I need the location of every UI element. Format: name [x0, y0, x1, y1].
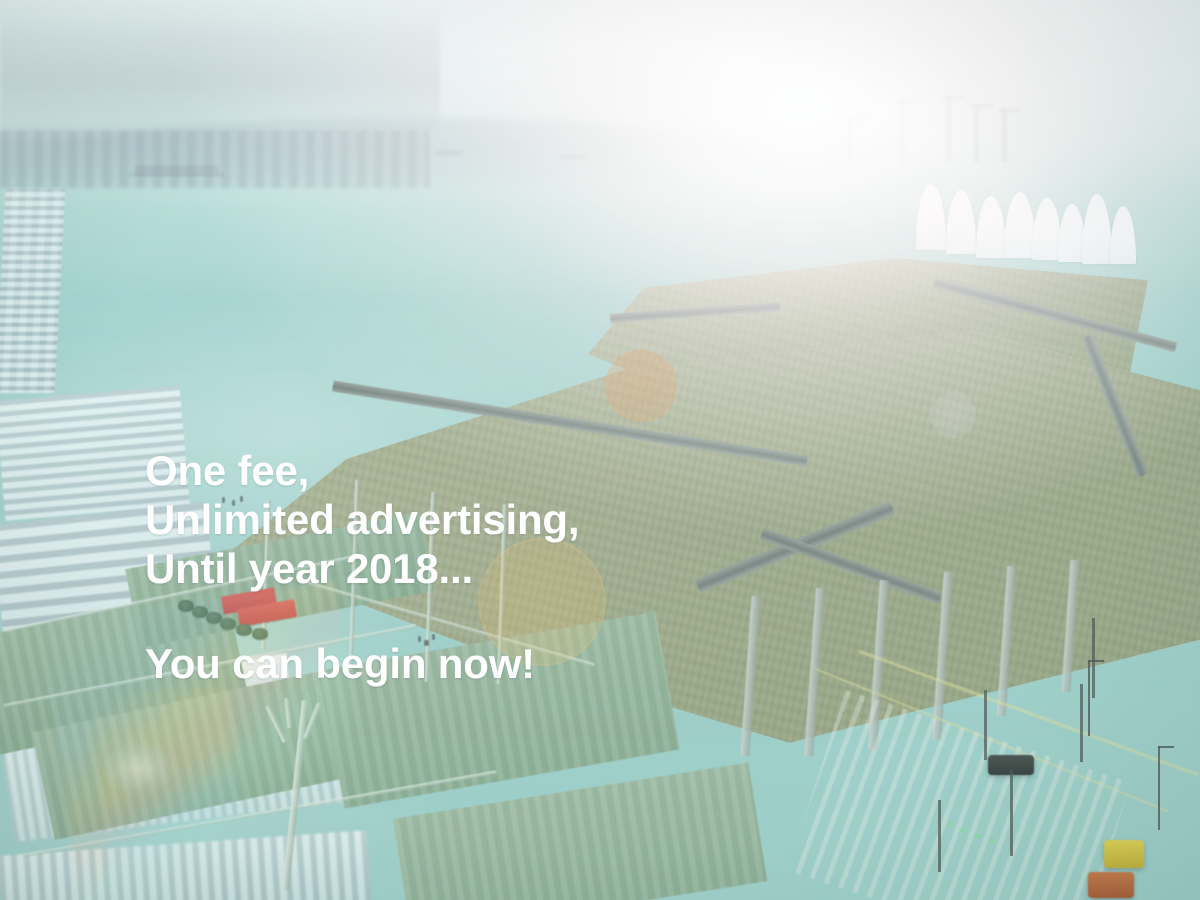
headline-line-1: One fee, — [145, 446, 845, 495]
port-haze-band — [0, 0, 440, 130]
street-lamp-2 — [1158, 746, 1160, 830]
utility-pole-4 — [984, 690, 987, 760]
port-crane-3 — [974, 104, 979, 162]
headline-copy-block: One fee, Unlimited advertising, Until ye… — [145, 446, 845, 688]
street-lamp-1 — [1088, 660, 1090, 736]
road-marker-light-3 — [976, 834, 980, 838]
yellow-taxi — [1104, 840, 1144, 868]
utility-pole-3 — [1010, 770, 1013, 856]
utility-pole-5 — [938, 800, 941, 872]
road-marker-light-1 — [948, 822, 952, 826]
call-to-action-text: You can begin now! — [145, 639, 845, 688]
headline-line-2: Unlimited advertising, — [145, 495, 845, 544]
road-marker-light-4 — [990, 840, 994, 844]
utility-pole-2 — [1080, 684, 1083, 762]
port-crane-2 — [946, 96, 951, 162]
copy-spacer — [145, 593, 845, 639]
headline-line-3: Until year 2018... — [145, 544, 845, 593]
port-crane-1 — [900, 100, 905, 162]
orange-car — [1088, 872, 1134, 898]
port-crane-4 — [1002, 108, 1007, 162]
advertising-banner: One fee, Unlimited advertising, Until ye… — [0, 0, 1200, 900]
glass-tower — [0, 188, 65, 393]
port-crane-5 — [848, 118, 852, 164]
road-marker-light-2 — [962, 828, 966, 832]
utility-pole-1 — [1092, 618, 1095, 698]
port-warehouses — [0, 130, 430, 188]
